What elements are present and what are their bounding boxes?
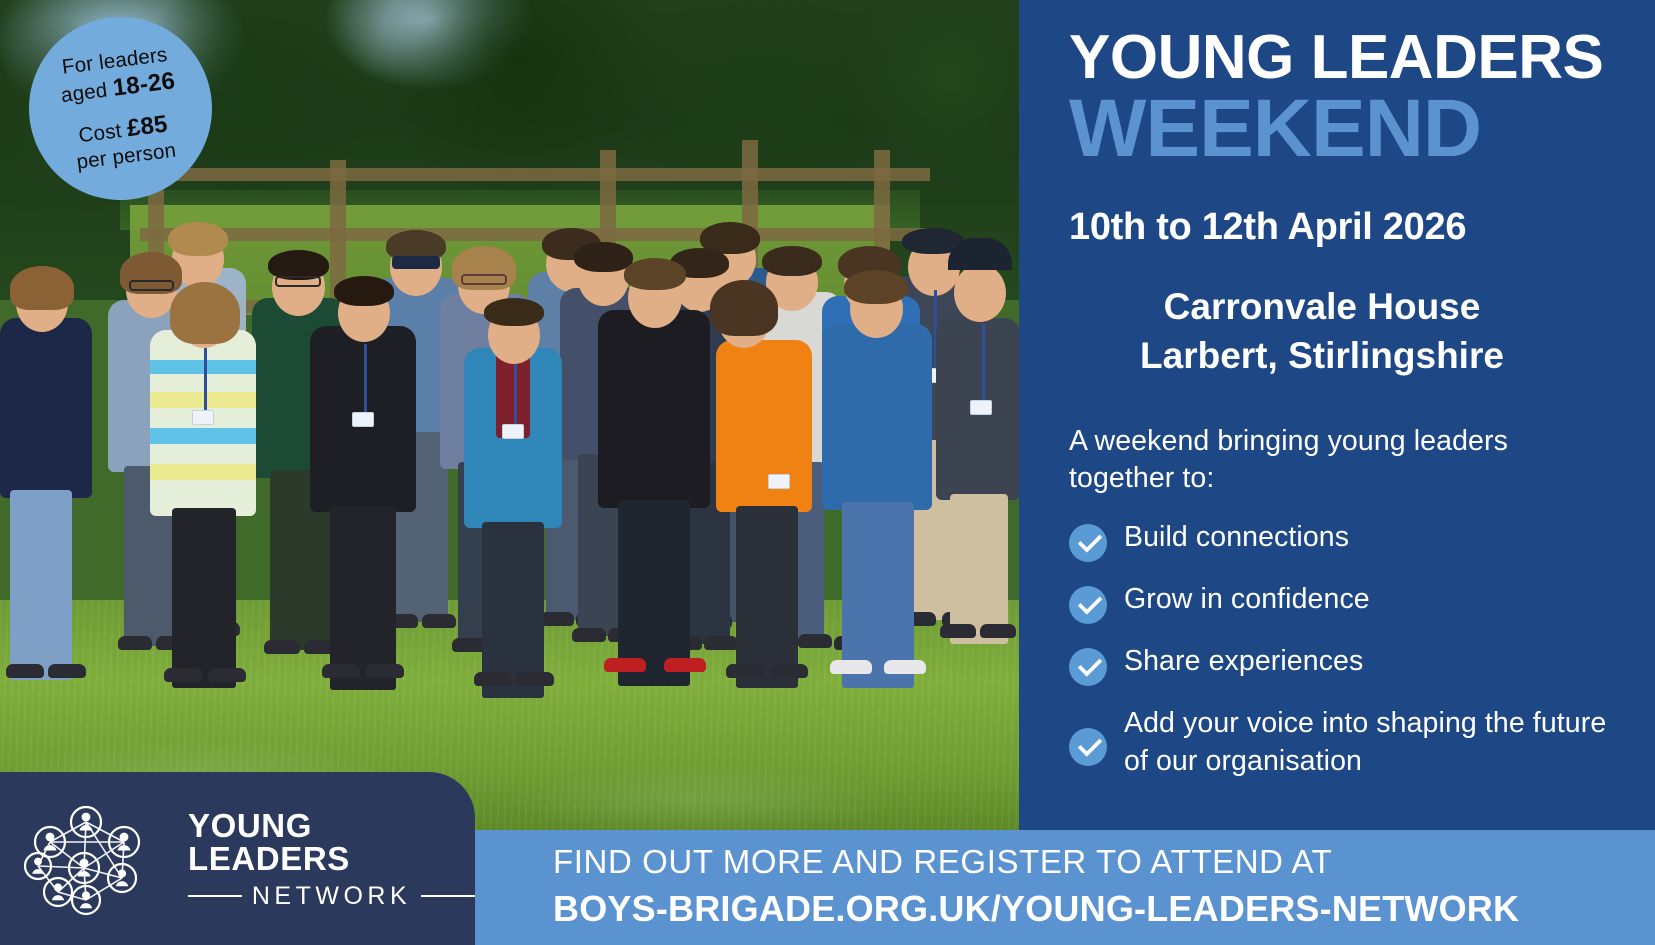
intro-text: A weekend bringing young leaders togethe… <box>1069 423 1621 497</box>
event-venue: Carronvale House Larbert, Stirlingshire <box>1069 283 1621 381</box>
footer-prompt: FIND OUT MORE AND REGISTER TO ATTEND AT <box>553 843 1655 882</box>
logo-line-2: NETWORK <box>252 884 411 909</box>
logo-rule-left <box>188 895 242 897</box>
pergola-beam <box>140 228 930 241</box>
venue-line-2: Larbert, Stirlingshire <box>1069 332 1575 381</box>
badge-spacer <box>120 102 122 115</box>
list-item-label: Share experiences <box>1124 643 1363 681</box>
list-item: Add your voice into shaping the future o… <box>1069 705 1621 780</box>
glasses-icon <box>461 274 507 285</box>
logo-line-1: YOUNG LEADERS <box>188 809 475 875</box>
sunglasses-icon <box>392 256 440 269</box>
list-item: Grow in confidence <box>1069 581 1621 624</box>
footer-cta: FIND OUT MORE AND REGISTER TO ATTEND AT … <box>475 830 1655 945</box>
logo-wordmark: YOUNG LEADERS NETWORK <box>188 809 475 909</box>
page-title-secondary: WEEKEND <box>1069 91 1621 166</box>
check-icon <box>1069 648 1107 686</box>
venue-line-1: Carronvale House <box>1069 283 1575 332</box>
badge-age-range: 18-26 <box>111 67 176 101</box>
network-logo-icon <box>24 800 166 918</box>
glasses-icon <box>129 280 174 291</box>
logo-rule-right <box>421 895 475 897</box>
check-icon <box>1069 524 1107 562</box>
info-panel: YOUNG LEADERS WEEKEND 10th to 12th April… <box>1019 0 1655 790</box>
logo-panel: YOUNG LEADERS NETWORK <box>0 772 475 945</box>
page-title-primary: YOUNG LEADERS <box>1069 28 1621 89</box>
list-item: Build connections <box>1069 519 1621 562</box>
event-date: 10th to 12th April 2026 <box>1069 206 1621 249</box>
list-item-label: Add your voice into shaping the future o… <box>1124 705 1621 780</box>
benefits-list: Build connections Grow in confidence Sha… <box>1069 519 1621 780</box>
list-item-label: Grow in confidence <box>1124 581 1370 619</box>
list-item: Share experiences <box>1069 643 1621 686</box>
pergola-beam <box>140 168 930 181</box>
logo-line-2-row: NETWORK <box>188 884 475 909</box>
glasses-icon <box>275 276 321 287</box>
group-photo: For leaders aged 18-26 Cost £85 per pers… <box>0 0 1019 830</box>
badge-price: £85 <box>125 110 169 142</box>
poster-root: For leaders aged 18-26 Cost £85 per pers… <box>0 0 1655 945</box>
list-item-label: Build connections <box>1124 519 1349 557</box>
footer-url[interactable]: BOYS-BRIGADE.ORG.UK/YOUNG-LEADERS-NETWOR… <box>553 888 1655 930</box>
check-icon <box>1069 728 1107 766</box>
check-icon <box>1069 586 1107 624</box>
